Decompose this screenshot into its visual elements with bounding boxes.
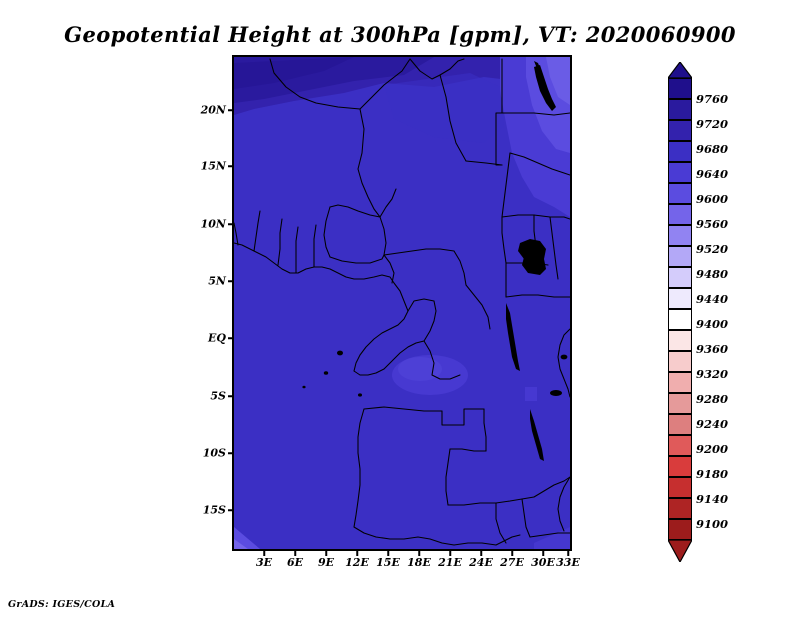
colorbar-label-9200: 9200 [696, 442, 728, 456]
ytick-15n [228, 165, 233, 167]
colorbar-band-4 [668, 162, 692, 183]
xtick-15e [387, 551, 389, 556]
xlabel-6e: 6E [287, 556, 303, 569]
colorbar-label-9640: 9640 [696, 167, 728, 181]
colorbar-label-9600: 9600 [696, 192, 728, 206]
colorbar-cap-bottom [668, 540, 692, 562]
colorbar-band-1 [668, 99, 692, 120]
colorbar-cap-top [668, 62, 692, 78]
colorbar-band-19 [668, 477, 692, 498]
xtick-9e [325, 551, 327, 556]
colorbar-band-20 [668, 498, 692, 519]
xtick-30e [542, 551, 544, 556]
colorbar-band-13 [668, 351, 692, 372]
colorbar-label-9440: 9440 [696, 292, 728, 306]
colorbar-label-9560: 9560 [696, 217, 728, 231]
colorbar-band-10 [668, 288, 692, 309]
ylabel-10s: 10S [182, 447, 226, 460]
xlabel-21e: 21E [438, 556, 462, 569]
colorbar-band-14 [668, 372, 692, 393]
colorbar-band-2 [668, 120, 692, 141]
colorbar-band-11 [668, 309, 692, 330]
ylabel-eq: EQ [182, 332, 226, 345]
colorbar-band-6 [668, 204, 692, 225]
ytick-5s [228, 395, 233, 397]
colorbar-band-15 [668, 393, 692, 414]
xtick-33e [567, 551, 569, 556]
colorbar-label-9520: 9520 [696, 242, 728, 256]
colorbar-band-7 [668, 225, 692, 246]
xlabel-24e: 24E [469, 556, 493, 569]
ytick-10s [228, 452, 233, 454]
ylabel-20n: 20N [182, 104, 226, 117]
colorbar-band-12 [668, 330, 692, 351]
colorbar-label-9280: 9280 [696, 392, 728, 406]
ytick-5n [228, 280, 233, 282]
xlabel-27e: 27E [500, 556, 524, 569]
colorbar-label-9400: 9400 [696, 317, 728, 331]
colorbar-label-9180: 9180 [696, 467, 728, 481]
colorbar-label-9680: 9680 [696, 142, 728, 156]
xlabel-9e: 9E [318, 556, 334, 569]
xtick-12e [356, 551, 358, 556]
colorbar-band-0 [668, 78, 692, 99]
ylabel-5n: 5N [182, 275, 226, 288]
colorbar-label-9480: 9480 [696, 267, 728, 281]
colorbar[interactable]: 9760 9720 9680 9640 9600 9560 9520 9480 … [668, 62, 798, 562]
colorbar-band-8 [668, 246, 692, 267]
ylabel-15s: 15S [182, 504, 226, 517]
colorbar-label-9360: 9360 [696, 342, 728, 356]
ylabel-15n: 15N [182, 160, 226, 173]
xtick-6e [294, 551, 296, 556]
xtick-24e [480, 551, 482, 556]
colorbar-band-9 [668, 267, 692, 288]
xtick-18e [418, 551, 420, 556]
xlabel-15e: 15E [376, 556, 400, 569]
xlabel-12e: 12E [345, 556, 369, 569]
ylabel-5s: 5S [182, 390, 226, 403]
xlabel-33e: 33E [556, 556, 580, 569]
colorbar-label-9720: 9720 [696, 117, 728, 131]
colorbar-band-18 [668, 456, 692, 477]
colorbar-band-16 [668, 414, 692, 435]
colorbar-label-9240: 9240 [696, 417, 728, 431]
ylabel-10n: 10N [182, 218, 226, 231]
colorbar-label-9320: 9320 [696, 367, 728, 381]
ytick-20n [228, 109, 233, 111]
xtick-3e [263, 551, 265, 556]
grads-plot: Geopotential Height at 300hPa [gpm], VT:… [0, 0, 800, 618]
colorbar-band-17 [668, 435, 692, 456]
colorbar-band-3 [668, 141, 692, 162]
attribution-label: GrADS: IGES/COLA [8, 599, 115, 610]
xtick-21e [449, 551, 451, 556]
page-title: Geopotential Height at 300hPa [gpm], VT:… [0, 22, 800, 47]
xlabel-30e: 30E [531, 556, 555, 569]
map-panel[interactable] [232, 55, 572, 551]
colorbar-label-9140: 9140 [696, 492, 728, 506]
colorbar-label-9100: 9100 [696, 517, 728, 531]
colorbar-band-5 [668, 183, 692, 204]
colorbar-band-21 [668, 519, 692, 540]
colorbar-label-9760: 9760 [696, 92, 728, 106]
map-canvas [234, 57, 570, 549]
xlabel-3e: 3E [256, 556, 272, 569]
ytick-eq [228, 337, 233, 339]
ytick-15s [228, 509, 233, 511]
ytick-10n [228, 223, 233, 225]
xtick-27e [511, 551, 513, 556]
xlabel-18e: 18E [407, 556, 431, 569]
